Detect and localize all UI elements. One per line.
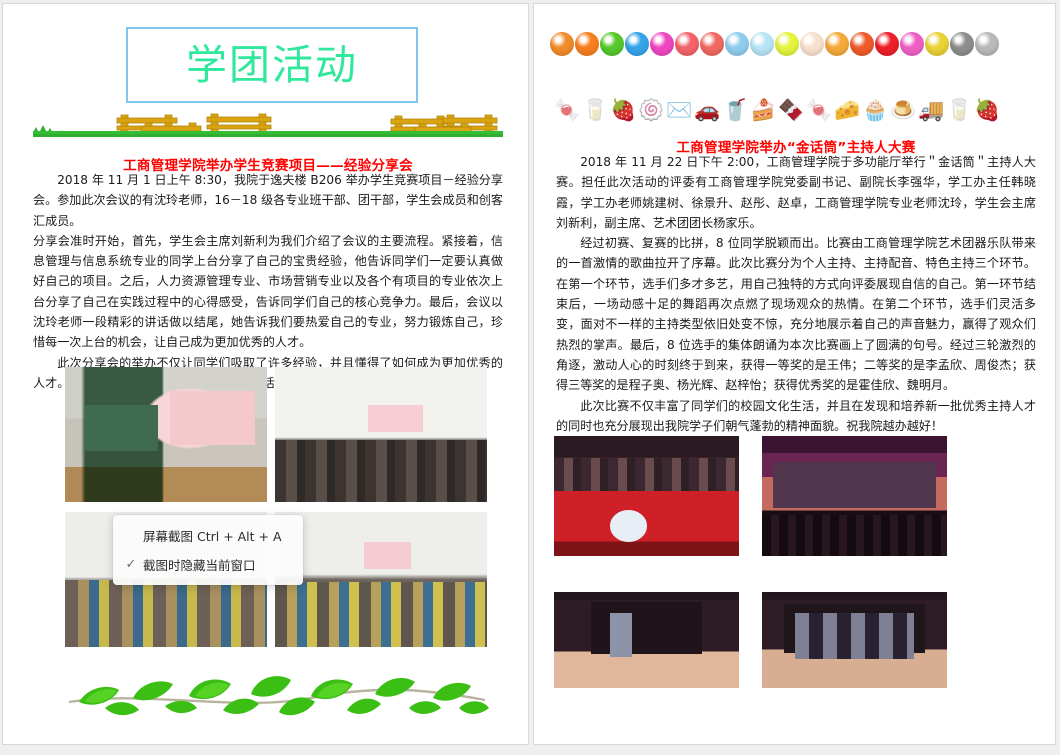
article-body-right: 2018 年 11 月 22 日下午 2:00，工商管理学院于多功能厅举行＂金话…: [556, 152, 1036, 436]
dessert-icon: 🚗: [694, 96, 720, 126]
candy-ball-icon: [800, 32, 824, 56]
candy-ball-decoration-icon: [550, 32, 1040, 58]
dessert-icon: 🍬: [554, 96, 580, 126]
check-icon: ✓: [119, 557, 143, 572]
document-workspace: 学团活动: [0, 0, 1060, 755]
candy-ball-icon: [975, 32, 999, 56]
photo-stage-performance: [762, 436, 947, 556]
paragraph: 经过初赛、复赛的比拼，8 位同学脱颖而出。比赛由工商管理学院艺术团器乐队带来的一…: [556, 233, 1036, 395]
dessert-icon: 🚚: [918, 96, 944, 126]
paragraph: 分享会准时开始，首先，学生会主席刘新利为我们介绍了会议的主要流程。紧接着，信息管…: [33, 231, 503, 353]
dessert-icon: 🧁: [862, 96, 888, 126]
candy-ball-icon: [575, 32, 599, 56]
paragraph: 此次比赛不仅丰富了同学们的校园文化生活，并且在发现和培养新一批优秀主持人才的同时…: [556, 396, 1036, 437]
dessert-icon: 🧀: [834, 96, 860, 126]
paragraph: 2018 年 11 月 22 日下午 2:00，工商管理学院于多功能厅举行＂金话…: [556, 152, 1036, 233]
dessert-icon: 🍓: [974, 96, 1000, 126]
candy-ball-icon: [875, 32, 899, 56]
dessert-icon-decoration: 🍬🥛🍓🍥✉️🚗🥤🍰🍫🍬🧀🧁🍮🚚🥛🍓: [554, 92, 1038, 126]
dessert-icon: 🍥: [638, 96, 664, 126]
screenshot-context-menu[interactable]: 屏幕截图 Ctrl + Alt + A ✓ 截图时隐藏当前窗口: [113, 515, 303, 585]
candy-ball-icon: [775, 32, 799, 56]
candy-ball-icon: [750, 32, 774, 56]
menu-item-label: 截图时隐藏当前窗口: [143, 555, 256, 574]
dessert-icon: 🍫: [778, 96, 804, 126]
dessert-icon: 🍮: [890, 96, 916, 126]
leaf-vine-decoration-icon: [61, 672, 491, 724]
dessert-icon: 🍰: [750, 96, 776, 126]
fence-grass-decoration-icon: [33, 112, 503, 138]
candy-ball-icon: [600, 32, 624, 56]
paragraph: 2018 年 11 月 1 日上午 8:30，我院于逸夫楼 B206 举办学生竞…: [33, 170, 503, 231]
candy-ball-icon: [850, 32, 874, 56]
candy-ball-icon: [650, 32, 674, 56]
dessert-icon: 🥛: [582, 96, 608, 126]
candy-ball-icon: [925, 32, 949, 56]
dessert-icon: 🍓: [610, 96, 636, 126]
page-left: 学团活动: [2, 3, 529, 745]
menu-item-label: 屏幕截图 Ctrl + Alt + A: [143, 526, 282, 545]
page-title-box: 学团活动: [126, 27, 418, 103]
photo-classroom-students-2: [275, 512, 487, 647]
candy-ball-icon: [900, 32, 924, 56]
page-title: 学团活动: [186, 45, 358, 86]
candy-ball-icon: [675, 32, 699, 56]
candy-ball-icon: [700, 32, 724, 56]
dessert-icon: ✉️: [666, 96, 692, 126]
photo-judges-panel: [554, 436, 739, 556]
candy-ball-icon: [825, 32, 849, 56]
photo-lecture-hall-audience: [275, 367, 487, 502]
candy-ball-icon: [550, 32, 574, 56]
dessert-icon: 🥛: [946, 96, 972, 126]
menu-item-hide-window[interactable]: ✓ 截图时隐藏当前窗口: [113, 550, 303, 579]
photo-award-group-winners: [762, 592, 947, 688]
candy-ball-icon: [625, 32, 649, 56]
page-right: 🍬🥛🍓🍥✉️🚗🥤🍰🍫🍬🧀🧁🍮🚚🥛🍓 工商管理学院举办“金话筒”主持人大赛 201…: [533, 3, 1056, 745]
photo-lecturer-podium: [65, 367, 267, 502]
article-body-left: 2018 年 11 月 1 日上午 8:30，我院于逸夫楼 B206 举办学生竞…: [33, 170, 503, 393]
candy-ball-icon: [725, 32, 749, 56]
candy-ball-icon: [950, 32, 974, 56]
photo-award-single-winner: [554, 592, 739, 688]
dessert-icon: 🥤: [722, 96, 748, 126]
menu-item-screenshot[interactable]: 屏幕截图 Ctrl + Alt + A: [113, 521, 303, 550]
dessert-icon: 🍬: [806, 96, 832, 126]
